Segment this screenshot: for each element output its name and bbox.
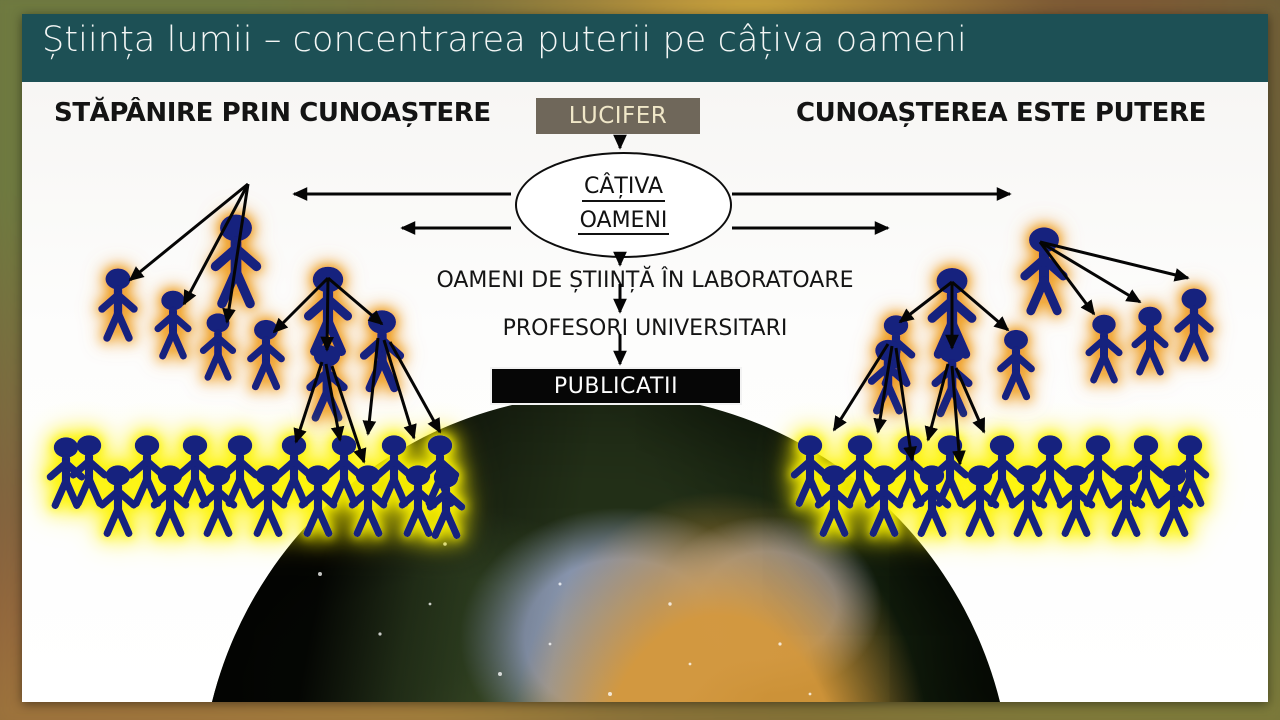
arrow-left-hub2-c xyxy=(327,278,328,350)
arrow-left-down-a xyxy=(296,362,322,442)
arrow-right-hub-b xyxy=(1040,242,1140,302)
arrow-right-down-e xyxy=(952,366,960,464)
arrow-right-hub2-b xyxy=(952,282,1008,330)
screenshot-root: Știința lumii – concentrarea puterii pe … xyxy=(0,0,1280,720)
arrow-left-down-d xyxy=(368,338,378,434)
arrow-left-hub-a xyxy=(130,184,248,280)
slide-title: Știința lumii – concentrarea puterii pe … xyxy=(42,20,967,60)
arrow-left-down-b xyxy=(326,364,340,440)
arrow-layer xyxy=(22,82,1268,702)
arrow-right-hub2-a xyxy=(900,282,952,322)
arrow-right-down-c xyxy=(896,348,912,460)
arrow-right-down-d xyxy=(928,364,948,440)
arrow-left-down-e xyxy=(384,340,414,438)
presentation-slide: Știința lumii – concentrarea puterii pe … xyxy=(22,14,1268,702)
slide-body: STĂPÂNIRE PRIN CUNOAȘTERE CUNOAȘTEREA ES… xyxy=(22,82,1268,702)
arrow-right-down-f xyxy=(956,368,984,432)
arrow-left-hub2-a xyxy=(274,278,328,332)
arrow-left-hub2-b xyxy=(328,278,382,324)
arrow-left-down-c xyxy=(332,366,364,462)
slide-title-bar: Știința lumii – concentrarea puterii pe … xyxy=(22,14,1268,82)
